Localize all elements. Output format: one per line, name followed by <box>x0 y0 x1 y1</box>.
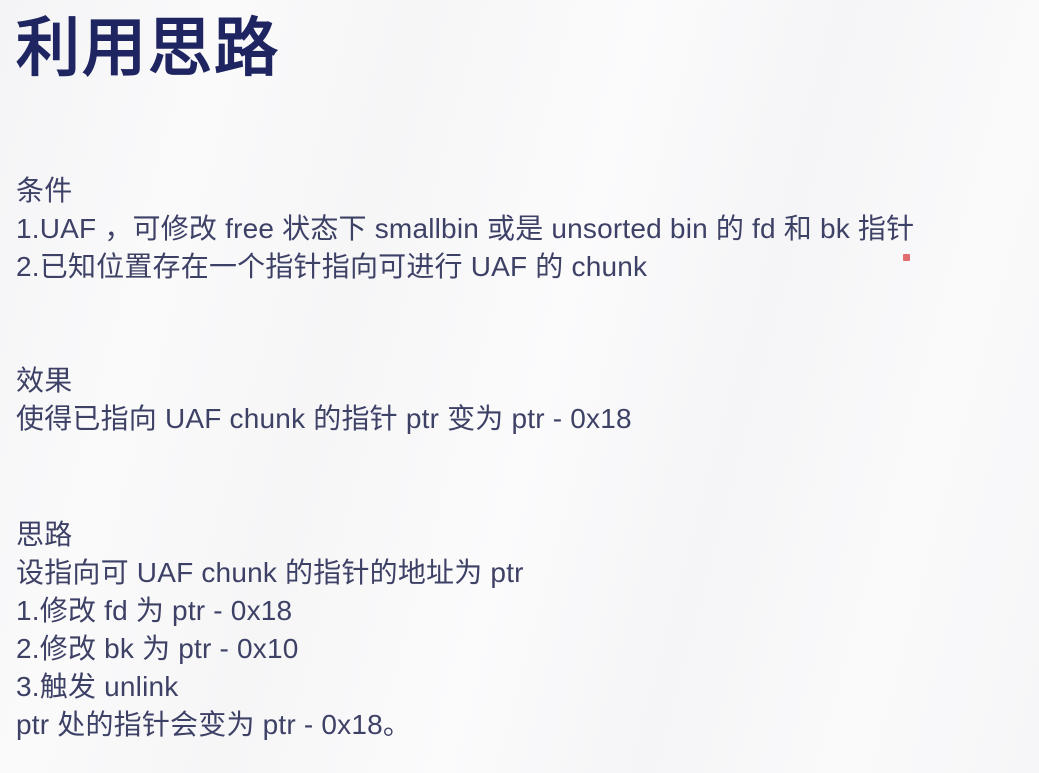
condition-item-1: 1.UAF ，可修改 free 状态下 smallbin 或是 unsorted… <box>16 210 1021 248</box>
idea-item-4: ptr 处的指针会变为 ptr - 0x18。 <box>16 706 1021 744</box>
idea-block: 思路 设指向可 UAF chunk 的指针的地址为 ptr 1.修改 fd 为 … <box>16 516 1021 744</box>
effect-block: 效果 使得已指向 UAF chunk 的指针 ptr 变为 ptr - 0x18 <box>16 362 1021 438</box>
idea-item-2: 2.修改 bk 为 ptr - 0x10 <box>16 630 1021 668</box>
slide-canvas: 利用思路 条件 1.UAF ，可修改 free 状态下 smallbin 或是 … <box>0 0 1039 773</box>
condition-block: 条件 1.UAF ，可修改 free 状态下 smallbin 或是 unsor… <box>16 172 1021 286</box>
effect-heading: 效果 <box>16 362 1021 400</box>
idea-heading: 思路 <box>16 516 1021 554</box>
effect-item-1: 使得已指向 UAF chunk 的指针 ptr 变为 ptr - 0x18 <box>16 400 1021 438</box>
idea-item-1: 1.修改 fd 为 ptr - 0x18 <box>16 592 1021 630</box>
idea-item-3: 3.触发 unlink <box>16 668 1021 706</box>
pointer-speck-artifact <box>903 254 910 261</box>
condition-item-2: 2.已知位置存在一个指针指向可进行 UAF 的 chunk <box>16 248 1021 286</box>
idea-item-0: 设指向可 UAF chunk 的指针的地址为 ptr <box>16 554 1021 592</box>
condition-heading: 条件 <box>16 172 1021 210</box>
page-title: 利用思路 <box>16 12 280 86</box>
